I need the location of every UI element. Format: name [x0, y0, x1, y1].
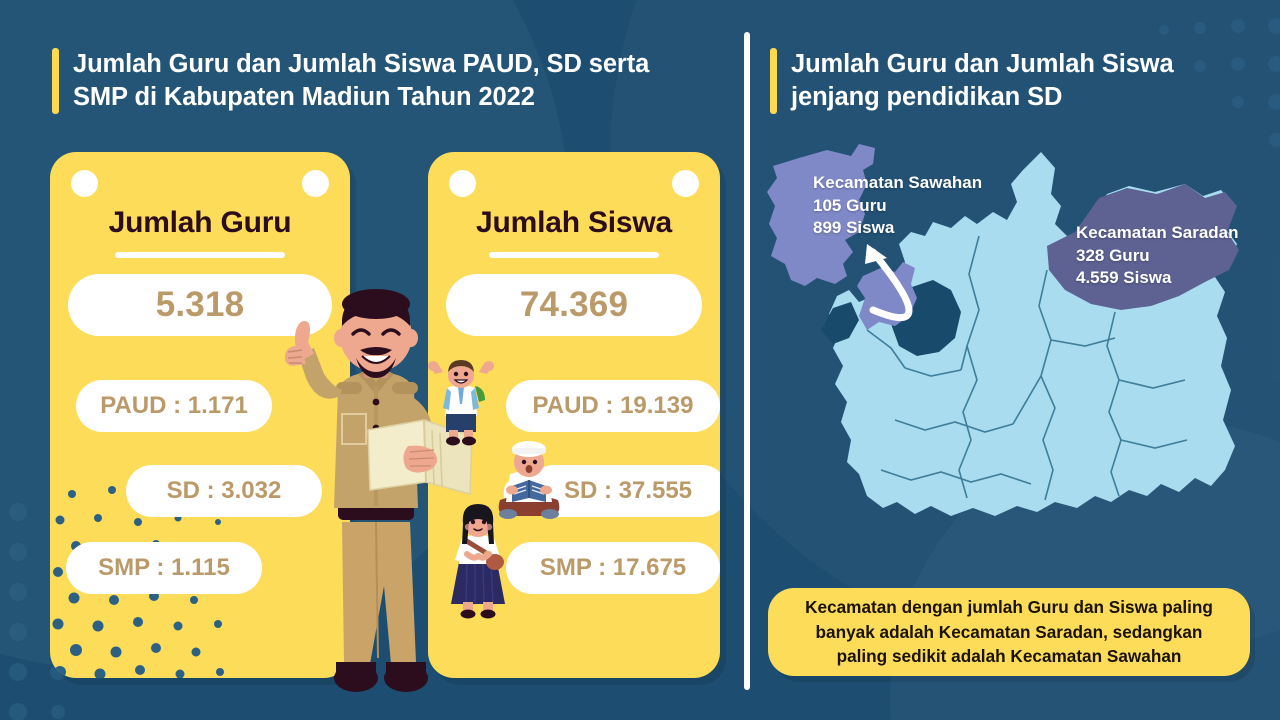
card-punch-hole-left: [449, 170, 476, 197]
title-accent-bar-left: [52, 48, 59, 114]
map-caption-text: Kecamatan dengan jumlah Guru dan Siswa p…: [791, 595, 1227, 668]
siswa-paud-pill: PAUD : 19.139: [506, 380, 720, 432]
card-underline-guru: [115, 252, 285, 258]
siswa-sd-value: SD : 37.555: [564, 477, 692, 505]
guru-paud-pill: PAUD : 1.171: [76, 380, 272, 432]
map-annotation-sawahan: Kecamatan Sawahan 105 Guru 899 Siswa: [813, 172, 982, 240]
panel-divider: [744, 32, 750, 690]
card-punch-hole-left: [71, 170, 98, 197]
card-underline-siswa: [489, 252, 659, 258]
total-guru-value: 5.318: [156, 285, 245, 325]
map-annotation-saradan: Kecamatan Saradan 328 Guru 4.559 Siswa: [1076, 222, 1239, 290]
siswa-smp-value: SMP : 17.675: [540, 554, 686, 582]
guru-paud-value: PAUD : 1.171: [100, 392, 248, 420]
card-punch-hole-right: [302, 170, 329, 197]
siswa-paud-value: PAUD : 19.139: [533, 392, 694, 420]
map-caption-box: Kecamatan dengan jumlah Guru dan Siswa p…: [768, 588, 1250, 676]
left-panel-title: Jumlah Guru dan Jumlah Siswa PAUD, SD se…: [52, 48, 712, 114]
right-panel-title: Jumlah Guru dan Jumlah Siswa jenjang pen…: [770, 48, 1240, 114]
total-siswa-value: 74.369: [520, 285, 628, 325]
siswa-smp-pill: SMP : 17.675: [506, 542, 720, 594]
card-title-guru: Jumlah Guru: [50, 206, 350, 240]
left-title-text: Jumlah Guru dan Jumlah Siswa PAUD, SD se…: [73, 48, 649, 114]
card-title-siswa: Jumlah Siswa: [428, 206, 720, 240]
right-title-text: Jumlah Guru dan Jumlah Siswa jenjang pen…: [791, 48, 1174, 114]
guru-smp-value: SMP : 1.115: [98, 554, 230, 582]
student-smp-illustration: [445, 500, 511, 622]
card-punch-hole-right: [672, 170, 699, 197]
student-paud-illustration: [425, 360, 497, 446]
title-accent-bar-right: [770, 48, 777, 114]
guru-smp-pill: SMP : 1.115: [66, 542, 262, 594]
